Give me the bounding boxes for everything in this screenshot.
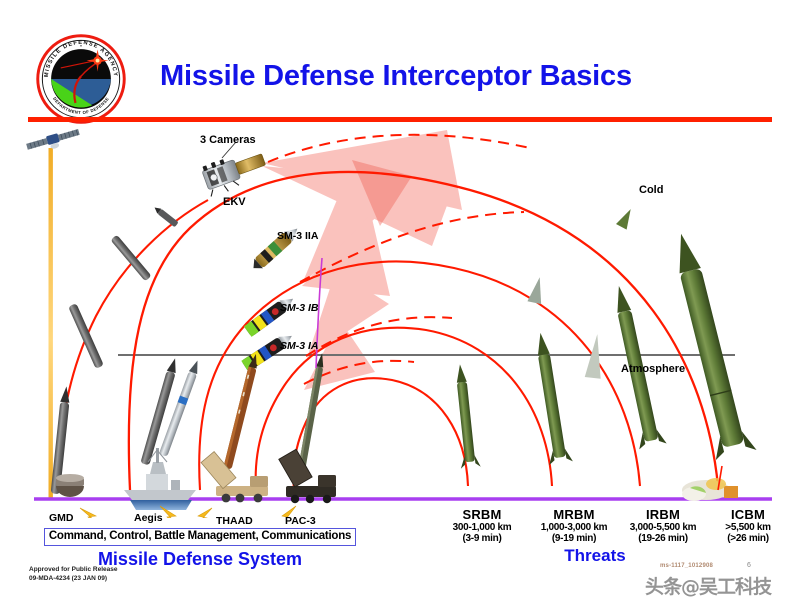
- c2bmc-callout-box: Command, Control, Battle Management, Com…: [44, 528, 356, 546]
- label-sm3-iia: SM-3 IIA: [277, 231, 318, 243]
- satellite-beam: [49, 148, 53, 498]
- thaad-interceptor: [223, 353, 260, 470]
- c2bmc-lightning-bolts: [80, 506, 296, 518]
- slide-code-stamp: ms-1117_1012908: [660, 563, 713, 569]
- aegis-interceptor-a: [140, 357, 179, 465]
- missile-defense-diagram: [0, 118, 800, 518]
- label-atmosphere: Atmosphere: [621, 363, 685, 375]
- label-ekv: EKV: [223, 196, 246, 208]
- threat-column-icbm: ICBM >5,500 km (>26 min): [692, 507, 800, 544]
- aegis-ship-icon: [124, 448, 196, 510]
- reentry-vehicle-cold: [616, 206, 636, 229]
- threat-missile-srbm: [450, 363, 481, 469]
- label-aegis: Aegis: [134, 513, 163, 525]
- gmd-interceptor-path: [60, 200, 208, 490]
- threat-range: >5,500 km: [692, 522, 800, 533]
- mda-seal-icon: • MISSILE DEFENSE AGENCY DEPARTMENT OF D…: [35, 33, 127, 125]
- threat-missile-mrbm: [529, 331, 573, 465]
- label-sm3-ib: SM-3 IB: [280, 303, 319, 315]
- approval-line-2: 09-MDA-4234 (23 JAN 09): [29, 575, 118, 584]
- gmd-silo-icon: [56, 474, 84, 497]
- satellite-icon: [26, 127, 82, 155]
- label-gmd: GMD: [49, 513, 74, 525]
- threat-time: (>26 min): [692, 533, 800, 544]
- gmd-kill-vehicle-small: [153, 205, 179, 227]
- public-release-statement: Approved for Public Release 09-MDA-4234 …: [29, 566, 118, 584]
- threat-name: ICBM: [692, 507, 800, 522]
- watermark-text: 头条@吴工科技: [645, 572, 771, 599]
- page-number: 6: [747, 562, 751, 569]
- thaad-launcher-icon: [201, 452, 268, 503]
- label-sm3-ia: SM-3 IA: [280, 341, 319, 353]
- approval-line-1: Approved for Public Release: [29, 566, 118, 575]
- label-3-cameras: 3 Cameras: [200, 134, 256, 146]
- sm3-ib-icon: [244, 293, 297, 336]
- page-title: Missile Defense Interceptor Basics: [160, 54, 720, 98]
- gmd-booster-stage-3: [110, 235, 151, 282]
- ekv-icon: [200, 146, 269, 198]
- label-cold: Cold: [639, 184, 663, 196]
- label-thaad: THAAD: [216, 516, 253, 528]
- label-pac3: PAC-3: [285, 516, 316, 528]
- reentry-vehicle-mid: [527, 276, 546, 304]
- icbm-launch-site-icon: [682, 478, 738, 501]
- trajectory-srbm: [293, 378, 468, 490]
- slide-canvas: • MISSILE DEFENSE AGENCY DEPARTMENT OF D…: [0, 0, 800, 615]
- trajectory-irbm: [199, 262, 640, 490]
